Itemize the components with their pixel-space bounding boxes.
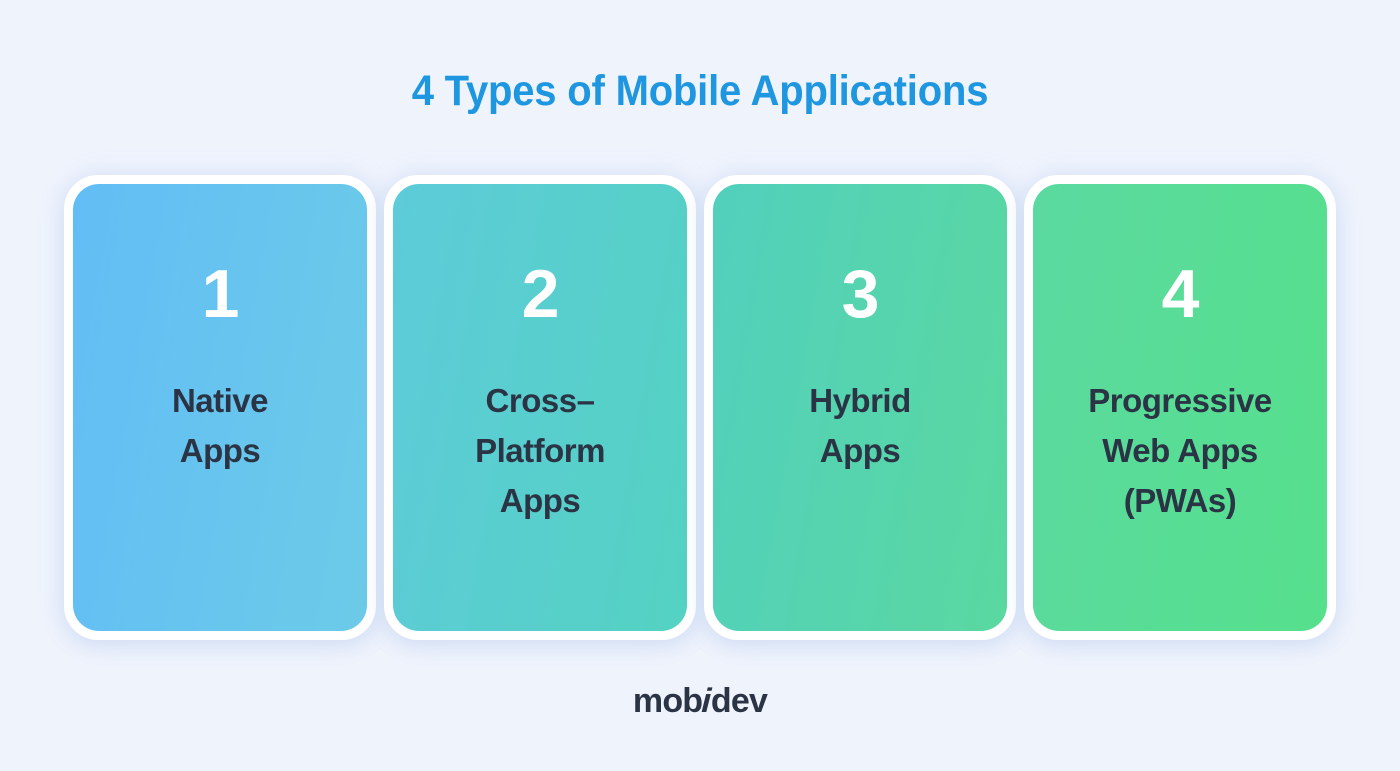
logo-text-part1: mob [633,684,702,718]
card-cross-platform-apps[interactable]: 2 Cross– Platform Apps [384,175,696,640]
logo-text-part2: dev [711,684,767,718]
card-inner-2: 2 Cross– Platform Apps [393,184,687,631]
card-native-apps[interactable]: 1 Native Apps [64,175,376,640]
page-title-container: 4 Types of Mobile Applications [0,70,1400,132]
page-title: 4 Types of Mobile Applications [412,70,989,113]
card-label-2: Cross– Platform Apps [393,376,687,526]
card-hybrid-apps[interactable]: 3 Hybrid Apps [704,175,1016,640]
card-label-4: Progressive Web Apps (PWAs) [1033,376,1327,526]
card-label-1: Native Apps [73,376,367,476]
card-number-3: 3 [842,260,879,328]
infographic-root: 4 Types of Mobile Applications 1 Native … [0,0,1400,771]
card-number-2: 2 [522,260,559,328]
card-label-3: Hybrid Apps [713,376,1007,476]
footer-logo-container: mobidev [633,684,767,724]
card-progressive-web-apps[interactable]: 4 Progressive Web Apps (PWAs) [1024,175,1336,640]
card-inner-1: 1 Native Apps [73,184,367,631]
card-inner-3: 3 Hybrid Apps [713,184,1007,631]
mobidev-logo: mobidev [633,684,767,718]
card-number-4: 4 [1162,260,1199,328]
card-inner-4: 4 Progressive Web Apps (PWAs) [1033,184,1327,631]
cards-row: 1 Native Apps 2 Cross– Platform Apps 3 H… [60,175,1340,640]
card-number-1: 1 [202,260,239,328]
